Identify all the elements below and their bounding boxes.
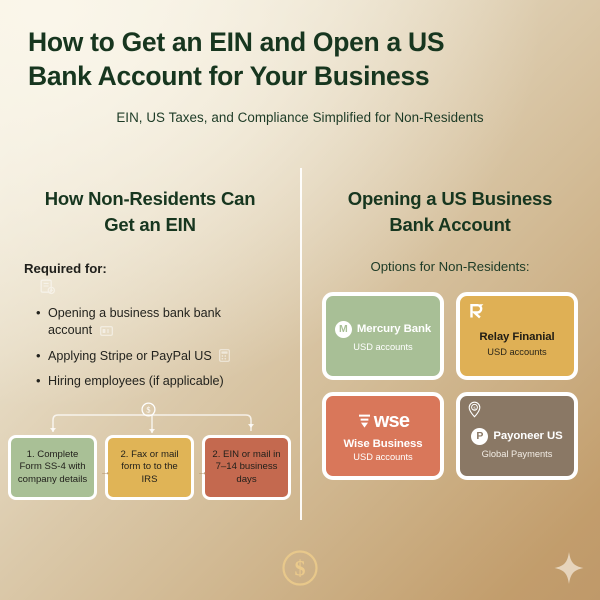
bank-card-name: Payoneer US	[493, 430, 562, 442]
bank-card-wise[interactable]: wse Wise Business USD accounts	[322, 392, 444, 480]
list-item: Hiring employees (if applicable)	[36, 373, 251, 390]
required-for-list: Opening a business bank bank account App…	[36, 305, 300, 390]
bank-option-cards: M Mercury Bank USD accounts Relay Finani…	[322, 292, 600, 480]
bank-card-mercury[interactable]: M Mercury Bank USD accounts	[322, 292, 444, 380]
flow-step-boxes: 1. Complete Form SS-4 with company detai…	[8, 435, 291, 500]
payoneer-p-icon: P	[471, 428, 488, 445]
bank-card-name: Mercury Bank	[357, 323, 431, 335]
list-item-label: Opening a business bank bank account	[48, 306, 221, 337]
flow-arrow-1: →	[100, 466, 111, 478]
left-title-line-1: How Non-Residents Can	[14, 186, 286, 212]
flow-step-label: 1. Complete Form SS-4 with company detai…	[15, 449, 90, 486]
sparkle-icon	[553, 551, 585, 590]
bank-card-icon	[100, 324, 113, 341]
options-label: Options for Non-Residents:	[300, 259, 600, 274]
wise-wordmark-icon: wse	[357, 410, 409, 433]
svg-text:$: $	[295, 556, 306, 581]
bank-card-subtitle: USD accounts	[353, 452, 412, 462]
list-item-label: Hiring employees (if applicable)	[48, 374, 224, 388]
bank-card-subtitle: USD accounts	[353, 342, 412, 352]
infographic-canvas: How to Get an EIN and Open a US Bank Acc…	[0, 0, 600, 600]
dollar-coin-icon: $	[281, 549, 319, 592]
flow-arrow-2: →	[197, 466, 208, 478]
payoneer-brand-row: P Payoneer US	[471, 428, 562, 445]
right-title-line-1: Opening a US Business	[314, 186, 586, 212]
dollar-coin-icon: $	[141, 402, 156, 417]
bank-card-name: Relay Finanial	[479, 331, 554, 343]
page-title: How to Get an EIN and Open a US Bank Acc…	[28, 26, 572, 94]
list-item: Opening a business bank bank account	[36, 305, 251, 340]
svg-text:$: $	[146, 406, 150, 415]
page-subtitle: EIN, US Taxes, and Compliance Simplified…	[28, 110, 572, 125]
mercury-brand-row: M Mercury Bank	[335, 321, 431, 338]
calculator-icon	[219, 349, 230, 367]
bank-card-name: Wise Business	[344, 438, 423, 450]
list-item-label: Applying Stripe or PayPal US	[48, 349, 212, 363]
flow-step-3: 2. EIN or mail in 7–14 business days	[202, 435, 291, 500]
page-title-line-1: How to Get an EIN and Open a US	[28, 26, 572, 60]
header: How to Get an EIN and Open a US Bank Acc…	[0, 26, 600, 125]
wise-wordmark-text: wse	[374, 410, 409, 433]
list-item: Applying Stripe or PayPal US	[36, 348, 251, 367]
flow-step-label: 2. Fax or mail form to to the IRS	[112, 449, 187, 486]
left-column-title: How Non-Residents Can Get an EIN	[0, 186, 300, 237]
relay-brand-row: Relay Finanial	[479, 331, 554, 343]
flow-step-label: 2. EIN or mail in 7–14 business days	[209, 449, 284, 486]
document-add-icon	[40, 279, 300, 300]
flow-step-2: 2. Fax or mail form to to the IRS	[105, 435, 194, 500]
relay-r-icon	[467, 301, 487, 326]
right-column-title: Opening a US Business Bank Account	[300, 186, 600, 237]
bank-card-subtitle: USD accounts	[487, 347, 546, 357]
right-column: Opening a US Business Bank Account Optio…	[300, 186, 600, 480]
mercury-m-icon: M	[335, 321, 352, 338]
left-column: How Non-Residents Can Get an EIN Require…	[0, 186, 300, 397]
pin-dollar-icon: $	[467, 401, 482, 423]
flow-step-1: 1. Complete Form SS-4 with company detai…	[8, 435, 97, 500]
left-title-line-2: Get an EIN	[14, 212, 286, 238]
bank-card-payoneer[interactable]: $ P Payoneer US Global Payments	[456, 392, 578, 480]
required-for-label: Required for:	[24, 261, 300, 276]
bank-card-subtitle: Global Payments	[482, 449, 553, 459]
page-title-line-2: Bank Account for Your Business	[28, 60, 572, 94]
right-title-line-2: Bank Account	[314, 212, 586, 238]
bank-card-relay[interactable]: Relay Finanial USD accounts	[456, 292, 578, 380]
